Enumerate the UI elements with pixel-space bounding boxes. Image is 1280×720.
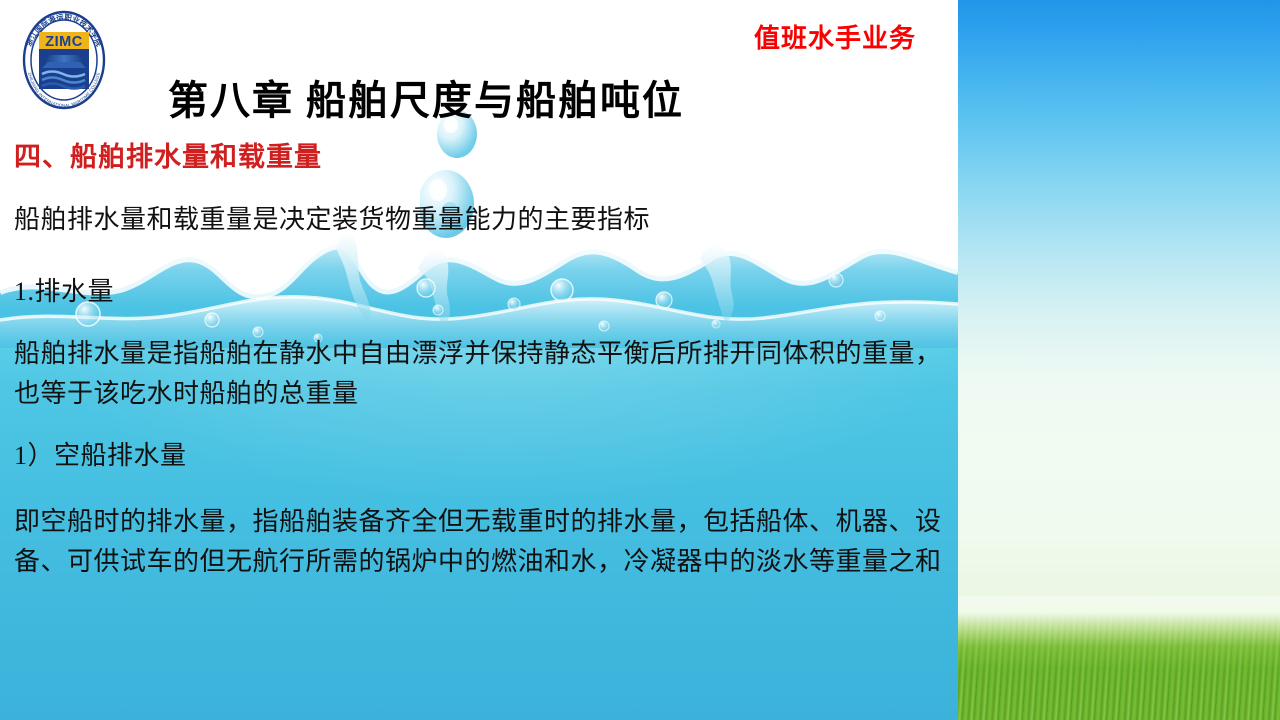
college-logo: ZIMC 浙江国际海运职业技术学院 ZHEJIANG INTERNATIONAL… bbox=[14, 6, 114, 114]
body-paragraph-displacement-definition: 船舶排水量是指船舶在静水中自由漂浮并保持静态平衡后所排开同体积的重量，也等于该吃… bbox=[14, 334, 958, 414]
slide-title: 第八章 船舶尺度与船舶吨位 bbox=[168, 68, 684, 126]
grass-field bbox=[958, 612, 1280, 720]
logo-acronym: ZIMC bbox=[45, 34, 82, 50]
body-subheading-displacement: 1.排水量 bbox=[14, 272, 414, 312]
scenic-side-panel bbox=[958, 0, 1280, 720]
water-droplets-graphic bbox=[420, 108, 570, 278]
body-paragraph-lightship-definition: 即空船时的排水量，指船舶装备齐全但无载重时的排水量，包括船体、机器、设备、可供试… bbox=[14, 502, 958, 582]
body-paragraph-intro: 船舶排水量和载重量是决定装货物重量能力的主要指标 bbox=[14, 200, 944, 240]
slide-content-panel: ZIMC 浙江国际海运职业技术学院 ZHEJIANG INTERNATIONAL… bbox=[0, 0, 958, 720]
section-heading: 四、船舶排水量和载重量 bbox=[14, 135, 322, 174]
presentation-slide: ZIMC 浙江国际海运职业技术学院 ZHEJIANG INTERNATIONAL… bbox=[0, 0, 1280, 720]
course-title-header: 值班水手业务 bbox=[754, 18, 916, 55]
body-subheading-lightship: 1）空船排水量 bbox=[14, 436, 514, 476]
